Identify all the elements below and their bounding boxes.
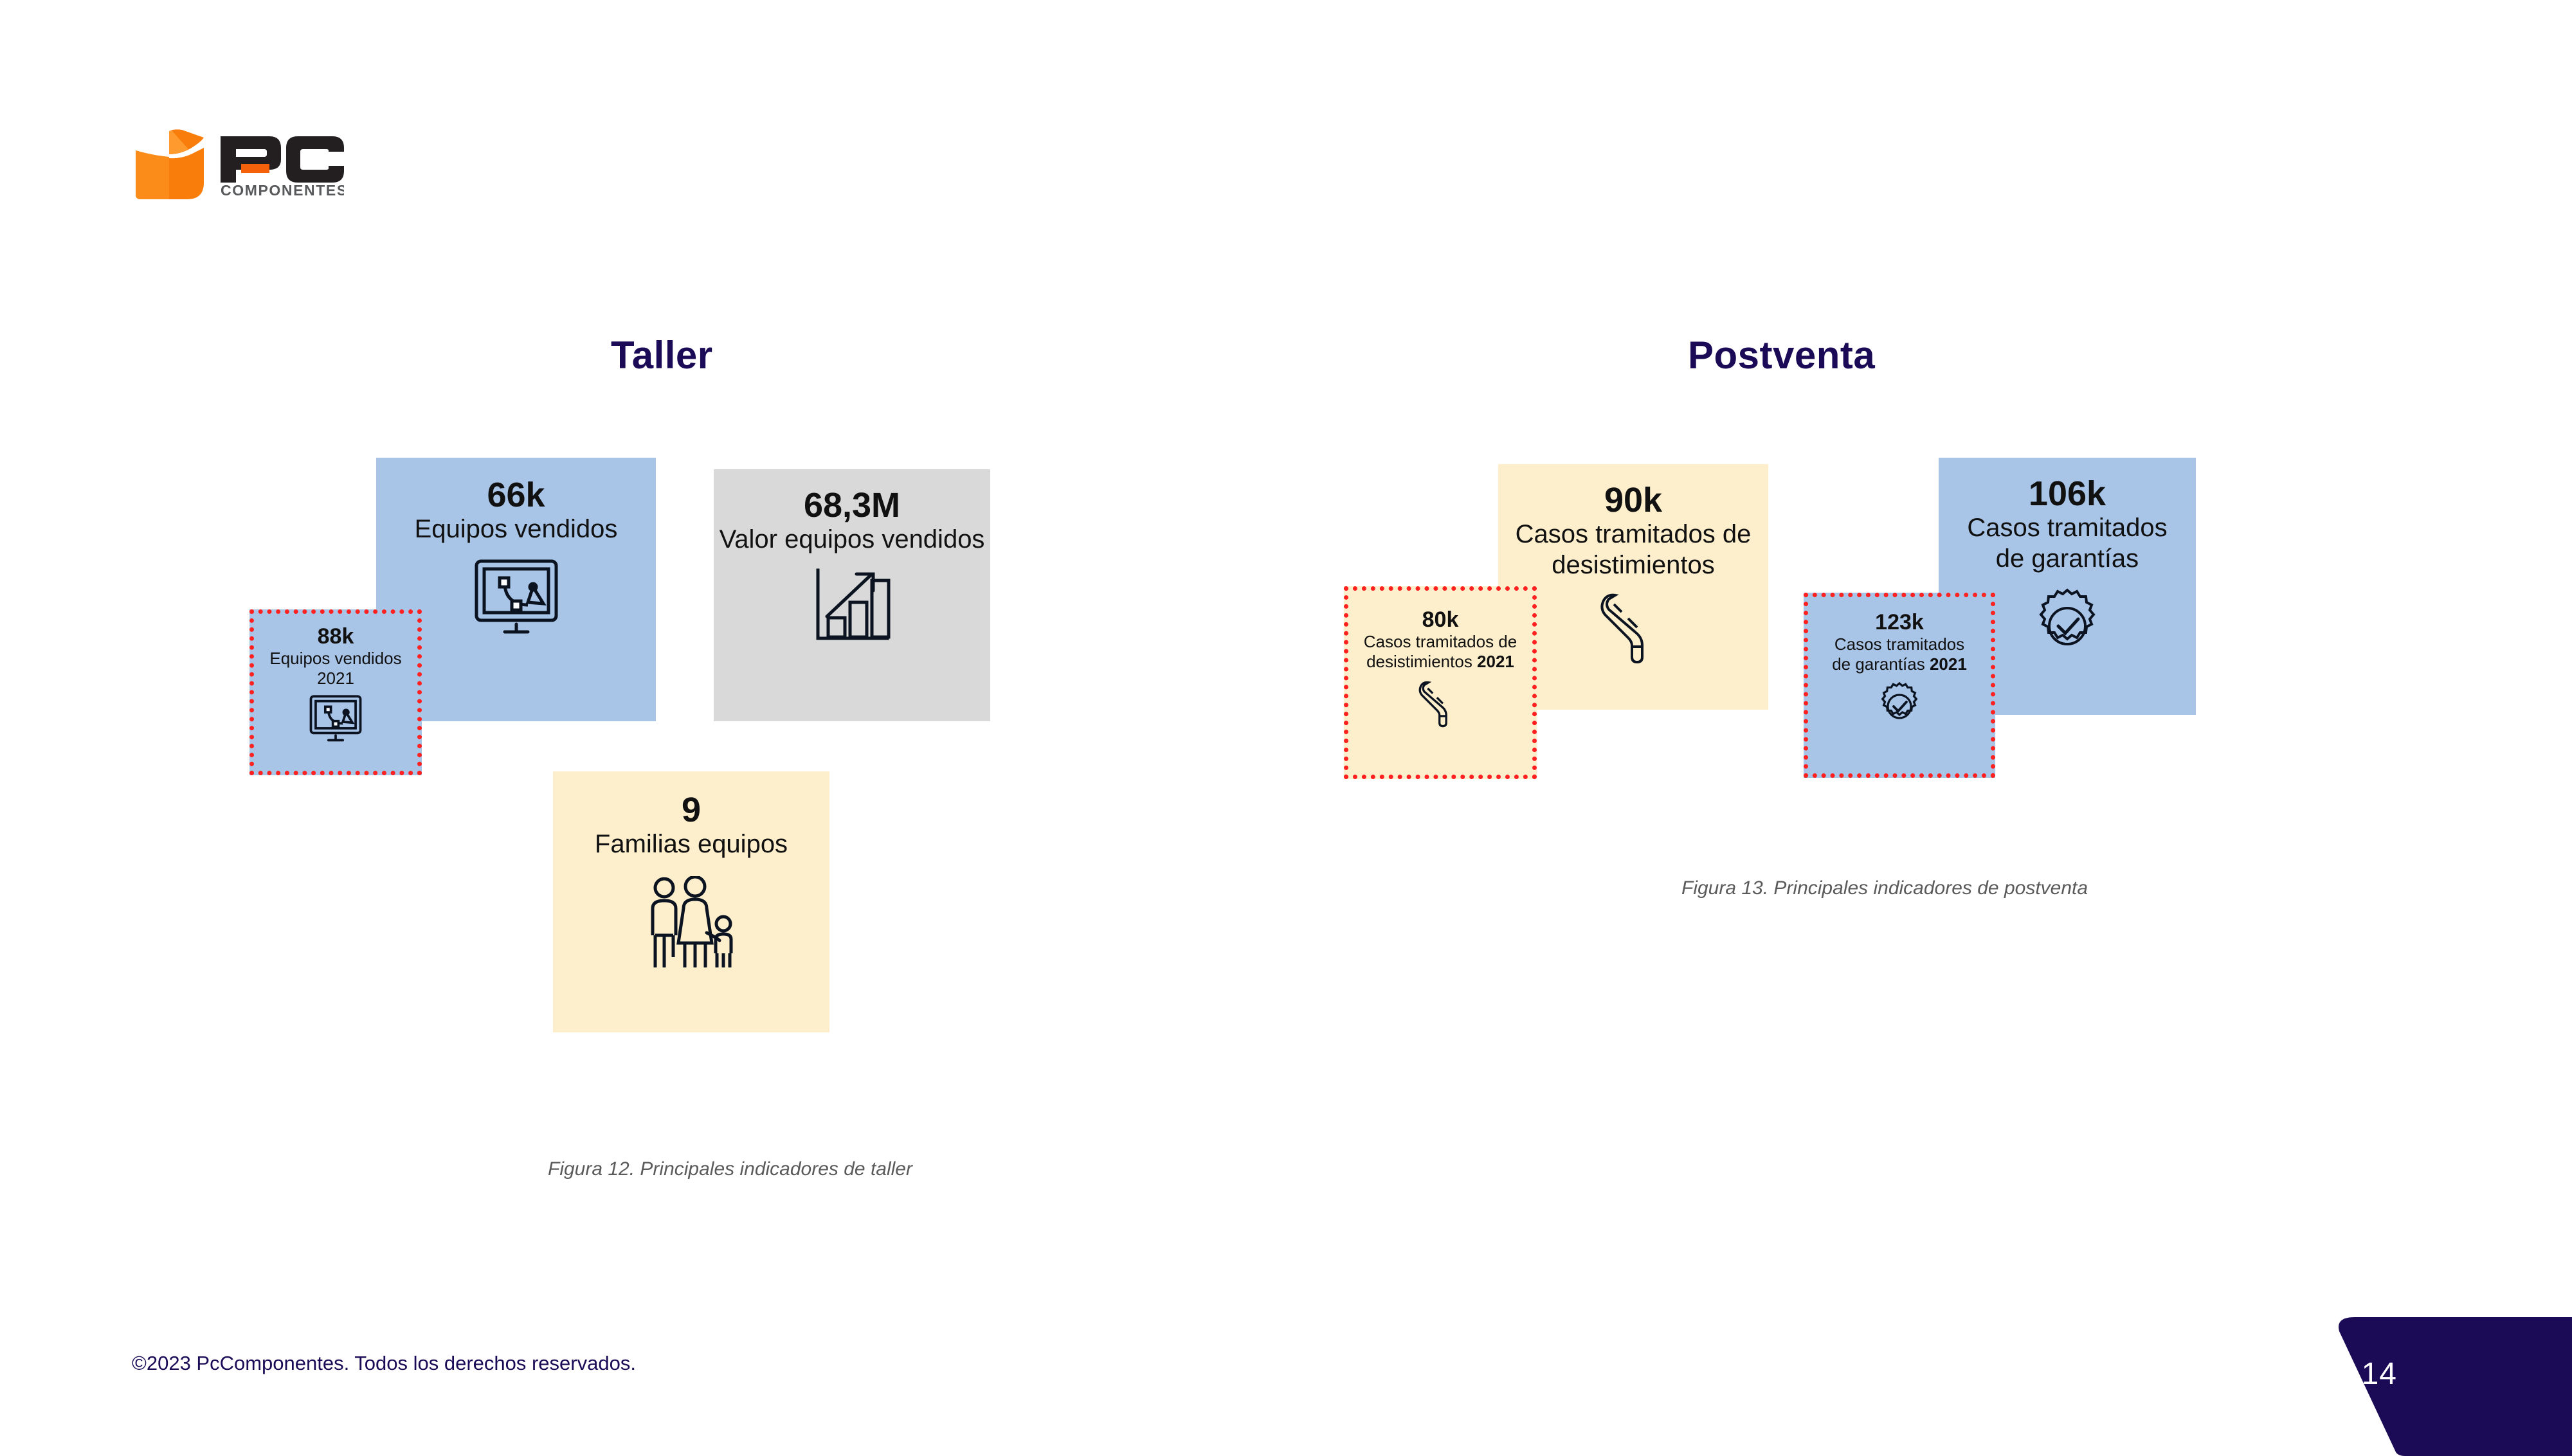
page-number-corner-shape bbox=[2289, 1315, 2572, 1456]
kpi-value: 88k bbox=[318, 625, 354, 649]
kpi-label: Casos tramitados de garantías bbox=[1967, 512, 2167, 575]
page-number: 14 bbox=[2362, 1356, 2397, 1392]
kpi-card-desistimientos-2021[interactable]: 80k Casos tramitados de desistimientos 2… bbox=[1344, 586, 1537, 779]
bar-chart-growth-icon bbox=[811, 566, 892, 645]
kpi-label: Familias equipos bbox=[595, 829, 788, 860]
kpi-label: Valor equipos vendidos bbox=[720, 524, 985, 555]
footer-copyright: ©2023 PcComponentes. Todos los derechos … bbox=[132, 1352, 636, 1375]
kpi-card-garantias-2021[interactable]: 123k Casos tramitados de garantías 2021 bbox=[1804, 593, 1995, 778]
kpi-value: 66k bbox=[487, 477, 545, 514]
kpi-card-familias-equipos[interactable]: 9 Familias equipos bbox=[553, 771, 829, 1032]
section-title-taller: Taller bbox=[611, 333, 713, 377]
kpi-card-desistimientos[interactable]: 90k Casos tramitados de desistimientos bbox=[1498, 464, 1768, 710]
section-title-postventa: Postventa bbox=[1688, 333, 1875, 377]
kpi-label-line2: de garantías bbox=[1832, 654, 1930, 674]
kpi-label-line1: Casos tramitados de bbox=[1516, 520, 1752, 548]
figure-caption-13: Figura 13. Principales indicadores de po… bbox=[1681, 877, 2088, 899]
badge-check-icon bbox=[2031, 588, 2103, 665]
kpi-label-line1: Casos tramitados bbox=[1834, 634, 1964, 654]
figure-caption-12: Figura 12. Principales indicadores de ta… bbox=[548, 1158, 912, 1180]
kpi-value: 90k bbox=[1604, 482, 1662, 519]
kpi-card-equipos-vendidos-2021[interactable]: 88k Equipos vendidos 2021 bbox=[249, 609, 422, 775]
kpi-label-line1: Equipos vendidos bbox=[269, 649, 401, 668]
kpi-label: Casos tramitados de desistimientos bbox=[1516, 519, 1752, 582]
badge-check-icon bbox=[1876, 681, 1923, 732]
pccomponentes-logo: COMPONENTES bbox=[132, 129, 344, 199]
kpi-label-line1: Casos tramitados de bbox=[1364, 632, 1517, 651]
slide-canvas: COMPONENTES Taller Postventa 66k Equipos… bbox=[0, 0, 2572, 1456]
monitor-pen-tool-icon bbox=[309, 694, 362, 743]
kpi-label-year: 2021 bbox=[1930, 654, 1967, 674]
kpi-label-line2: 2021 bbox=[317, 669, 354, 688]
kpi-value: 106k bbox=[2029, 476, 2106, 512]
kpi-label: Casos tramitados de garantías 2021 bbox=[1832, 634, 1967, 675]
kpi-label: Equipos vendidos bbox=[415, 514, 618, 545]
kpi-value: 80k bbox=[1422, 609, 1459, 632]
kpi-value: 68,3M bbox=[804, 487, 900, 524]
svg-text:COMPONENTES: COMPONENTES bbox=[221, 182, 344, 199]
kpi-label-line1: Casos tramitados bbox=[1967, 514, 2167, 542]
kpi-value: 123k bbox=[1875, 611, 1924, 634]
kpi-card-valor-equipos[interactable]: 68,3M Valor equipos vendidos bbox=[714, 469, 990, 721]
boomerang-icon bbox=[1418, 679, 1462, 729]
kpi-label-line2: de garantías bbox=[1996, 544, 2139, 573]
kpi-label: Casos tramitados de desistimientos 2021 bbox=[1364, 632, 1517, 672]
kpi-value: 9 bbox=[682, 792, 701, 829]
boomerang-icon bbox=[1600, 590, 1667, 666]
kpi-label: Equipos vendidos 2021 bbox=[269, 649, 401, 689]
monitor-pen-tool-icon bbox=[474, 559, 559, 636]
family-icon bbox=[640, 876, 743, 973]
kpi-label-line2: desistimientos bbox=[1552, 551, 1714, 579]
kpi-label-line2: desistimientos bbox=[1366, 652, 1477, 671]
kpi-label-year: 2021 bbox=[1477, 652, 1514, 671]
